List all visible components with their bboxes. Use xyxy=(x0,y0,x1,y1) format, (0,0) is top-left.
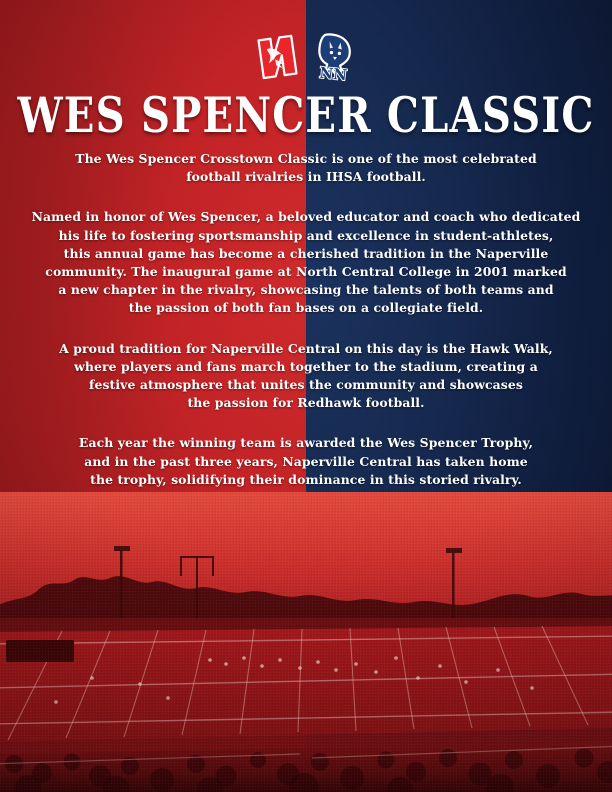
text-line: and in the past three years, Naperville … xyxy=(20,453,592,471)
text-line: the passion for Redhawk football. xyxy=(20,394,592,412)
paragraph-intro: The Wes Spencer Crosstown Classic is one… xyxy=(0,150,612,186)
text-line: the passion of both fan bases on a colle… xyxy=(20,299,592,317)
naperville-central-redhawks-logo xyxy=(251,32,303,82)
text-line: community. The inaugural game at North C… xyxy=(20,263,592,281)
wes-spencer-classic-poster: .sky{fill:url(#skyRed)} .trees{fill:#4a0… xyxy=(0,0,612,792)
team-logos: NN xyxy=(0,30,612,82)
text-line: Named in honor of Wes Spencer, a beloved… xyxy=(20,208,592,226)
naperville-north-huskies-logo: NN xyxy=(309,32,361,82)
text-line: football rivalries in IHSA football. xyxy=(20,168,592,186)
poster-content: NN WES SPENCER CLASSIC The Wes Spencer C… xyxy=(0,0,612,792)
text-line: this annual game has become a cherished … xyxy=(20,245,592,263)
paragraph-hawk-walk: A proud tradition for Naperville Central… xyxy=(0,340,612,413)
poster-body-text: The Wes Spencer Crosstown Classic is one… xyxy=(0,150,612,489)
text-line: the trophy, solidifying their dominance … xyxy=(20,471,592,489)
text-line: a new chapter in the rivalry, showcasing… xyxy=(20,281,592,299)
paragraph-history: Named in honor of Wes Spencer, a beloved… xyxy=(0,208,612,317)
text-line: A proud tradition for Naperville Central… xyxy=(20,340,592,358)
text-line: The Wes Spencer Crosstown Classic is one… xyxy=(20,150,592,168)
paragraph-trophy: Each year the winning team is awarded th… xyxy=(0,434,612,489)
page-title: WES SPENCER CLASSIC xyxy=(6,92,606,140)
text-line: his life to fostering sportsmanship and … xyxy=(20,227,592,245)
text-line: festive atmosphere that unites the commu… xyxy=(20,376,592,394)
text-line: where players and fans march together to… xyxy=(20,358,592,376)
svg-text:NN: NN xyxy=(319,64,348,82)
text-line: Each year the winning team is awarded th… xyxy=(20,434,592,452)
